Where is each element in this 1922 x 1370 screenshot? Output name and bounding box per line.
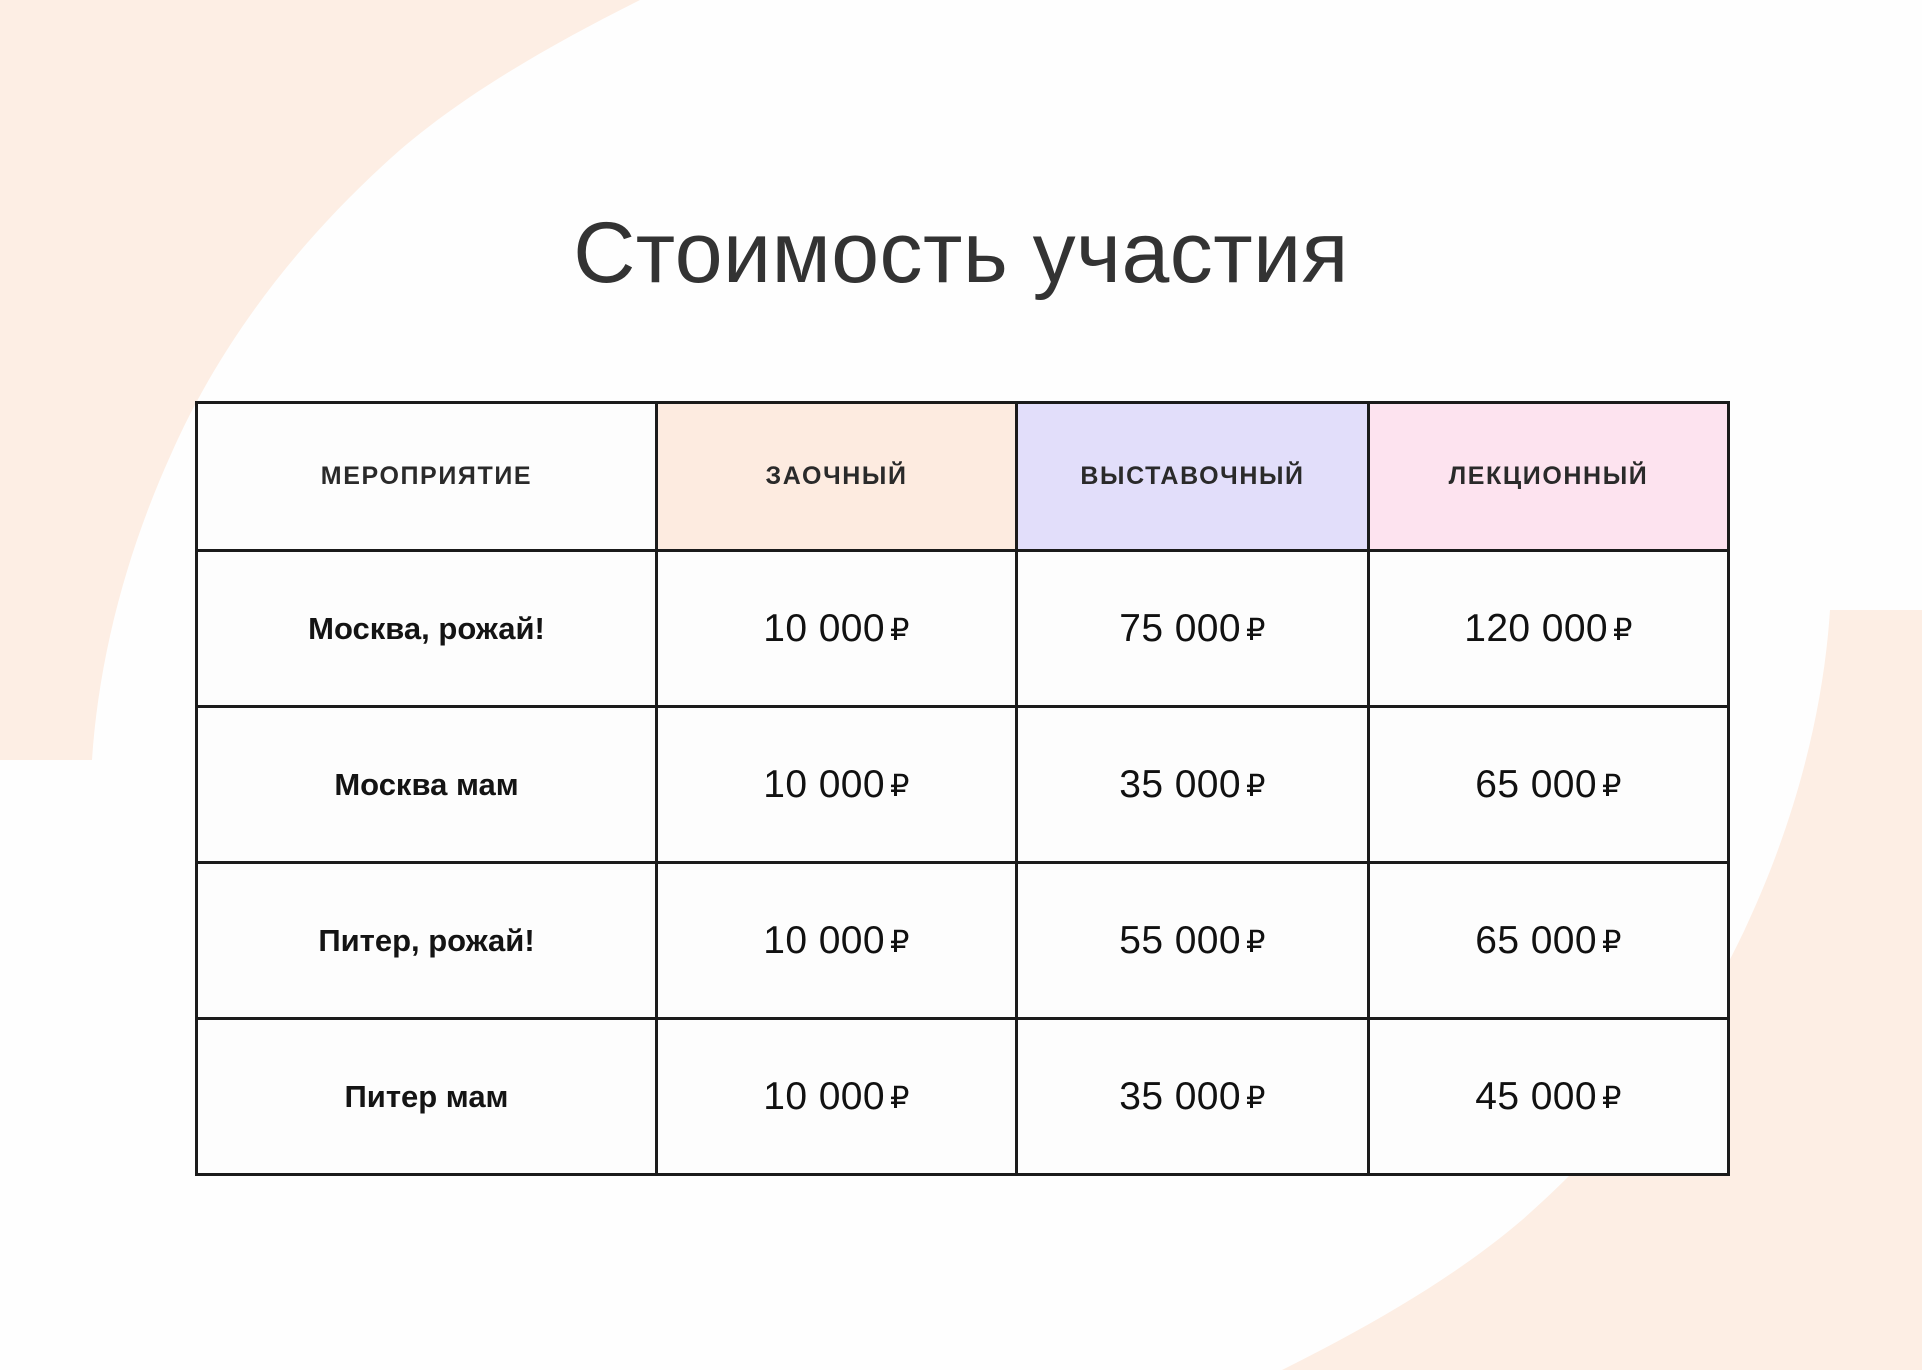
price-cell: 10 000₽ — [657, 1019, 1017, 1175]
price-amount: 35 000 — [1119, 1075, 1241, 1118]
ruble-icon: ₽ — [1246, 925, 1266, 959]
price-amount: 120 000 — [1464, 607, 1608, 650]
price-amount: 55 000 — [1119, 919, 1241, 962]
column-header-vystavochny: ВЫСТАВОЧНЫЙ — [1017, 403, 1369, 551]
price-amount: 10 000 — [763, 1075, 885, 1118]
ruble-icon: ₽ — [890, 925, 910, 959]
table-row: Питер, рожай! 10 000₽ 55 000₽ 65 000₽ — [197, 863, 1729, 1019]
price-cell: 65 000₽ — [1369, 863, 1729, 1019]
price-cell: 10 000₽ — [657, 551, 1017, 707]
price-cell: 35 000₽ — [1017, 707, 1369, 863]
row-label: Москва, рожай! — [197, 551, 657, 707]
pricing-table: МЕРОПРИЯТИЕ ЗАОЧНЫЙ ВЫСТАВОЧНЫЙ ЛЕКЦИОНН… — [195, 401, 1730, 1176]
table-header-row: МЕРОПРИЯТИЕ ЗАОЧНЫЙ ВЫСТАВОЧНЫЙ ЛЕКЦИОНН… — [197, 403, 1729, 551]
ruble-icon: ₽ — [890, 769, 910, 803]
column-header-zaochny: ЗАОЧНЫЙ — [657, 403, 1017, 551]
column-header-lektsionny: ЛЕКЦИОННЫЙ — [1369, 403, 1729, 551]
price-amount: 35 000 — [1119, 763, 1241, 806]
price-cell: 75 000₽ — [1017, 551, 1369, 707]
pricing-table-container: МЕРОПРИЯТИЕ ЗАОЧНЫЙ ВЫСТАВОЧНЫЙ ЛЕКЦИОНН… — [195, 401, 1727, 1175]
price-amount: 65 000 — [1475, 763, 1597, 806]
page-title: Стоимость участия — [0, 208, 1922, 298]
price-amount: 10 000 — [763, 763, 885, 806]
ruble-icon: ₽ — [1613, 613, 1633, 647]
table-row: Москва мам 10 000₽ 35 000₽ 65 000₽ — [197, 707, 1729, 863]
ruble-icon: ₽ — [1602, 925, 1622, 959]
price-amount: 75 000 — [1119, 607, 1241, 650]
price-amount: 10 000 — [763, 919, 885, 962]
row-label: Питер мам — [197, 1019, 657, 1175]
table-row: Питер мам 10 000₽ 35 000₽ 45 000₽ — [197, 1019, 1729, 1175]
ruble-icon: ₽ — [890, 613, 910, 647]
row-label: Москва мам — [197, 707, 657, 863]
table-row: Москва, рожай! 10 000₽ 75 000₽ 120 000₽ — [197, 551, 1729, 707]
price-cell: 65 000₽ — [1369, 707, 1729, 863]
price-amount: 10 000 — [763, 607, 885, 650]
table-header: МЕРОПРИЯТИЕ ЗАОЧНЫЙ ВЫСТАВОЧНЫЙ ЛЕКЦИОНН… — [197, 403, 1729, 551]
table-body: Москва, рожай! 10 000₽ 75 000₽ 120 000₽ … — [197, 551, 1729, 1175]
ruble-icon: ₽ — [1602, 769, 1622, 803]
row-label: Питер, рожай! — [197, 863, 657, 1019]
price-cell: 45 000₽ — [1369, 1019, 1729, 1175]
price-cell: 35 000₽ — [1017, 1019, 1369, 1175]
ruble-icon: ₽ — [1602, 1081, 1622, 1115]
price-cell: 10 000₽ — [657, 863, 1017, 1019]
price-amount: 45 000 — [1475, 1075, 1597, 1118]
ruble-icon: ₽ — [1246, 769, 1266, 803]
ruble-icon: ₽ — [1246, 1081, 1266, 1115]
price-amount: 65 000 — [1475, 919, 1597, 962]
slide-canvas: Стоимость участия МЕРОПРИЯТИЕ ЗАОЧНЫЙ ВЫ… — [0, 0, 1922, 1370]
ruble-icon: ₽ — [890, 1081, 910, 1115]
column-header-event: МЕРОПРИЯТИЕ — [197, 403, 657, 551]
price-cell: 10 000₽ — [657, 707, 1017, 863]
price-cell: 120 000₽ — [1369, 551, 1729, 707]
ruble-icon: ₽ — [1246, 613, 1266, 647]
price-cell: 55 000₽ — [1017, 863, 1369, 1019]
